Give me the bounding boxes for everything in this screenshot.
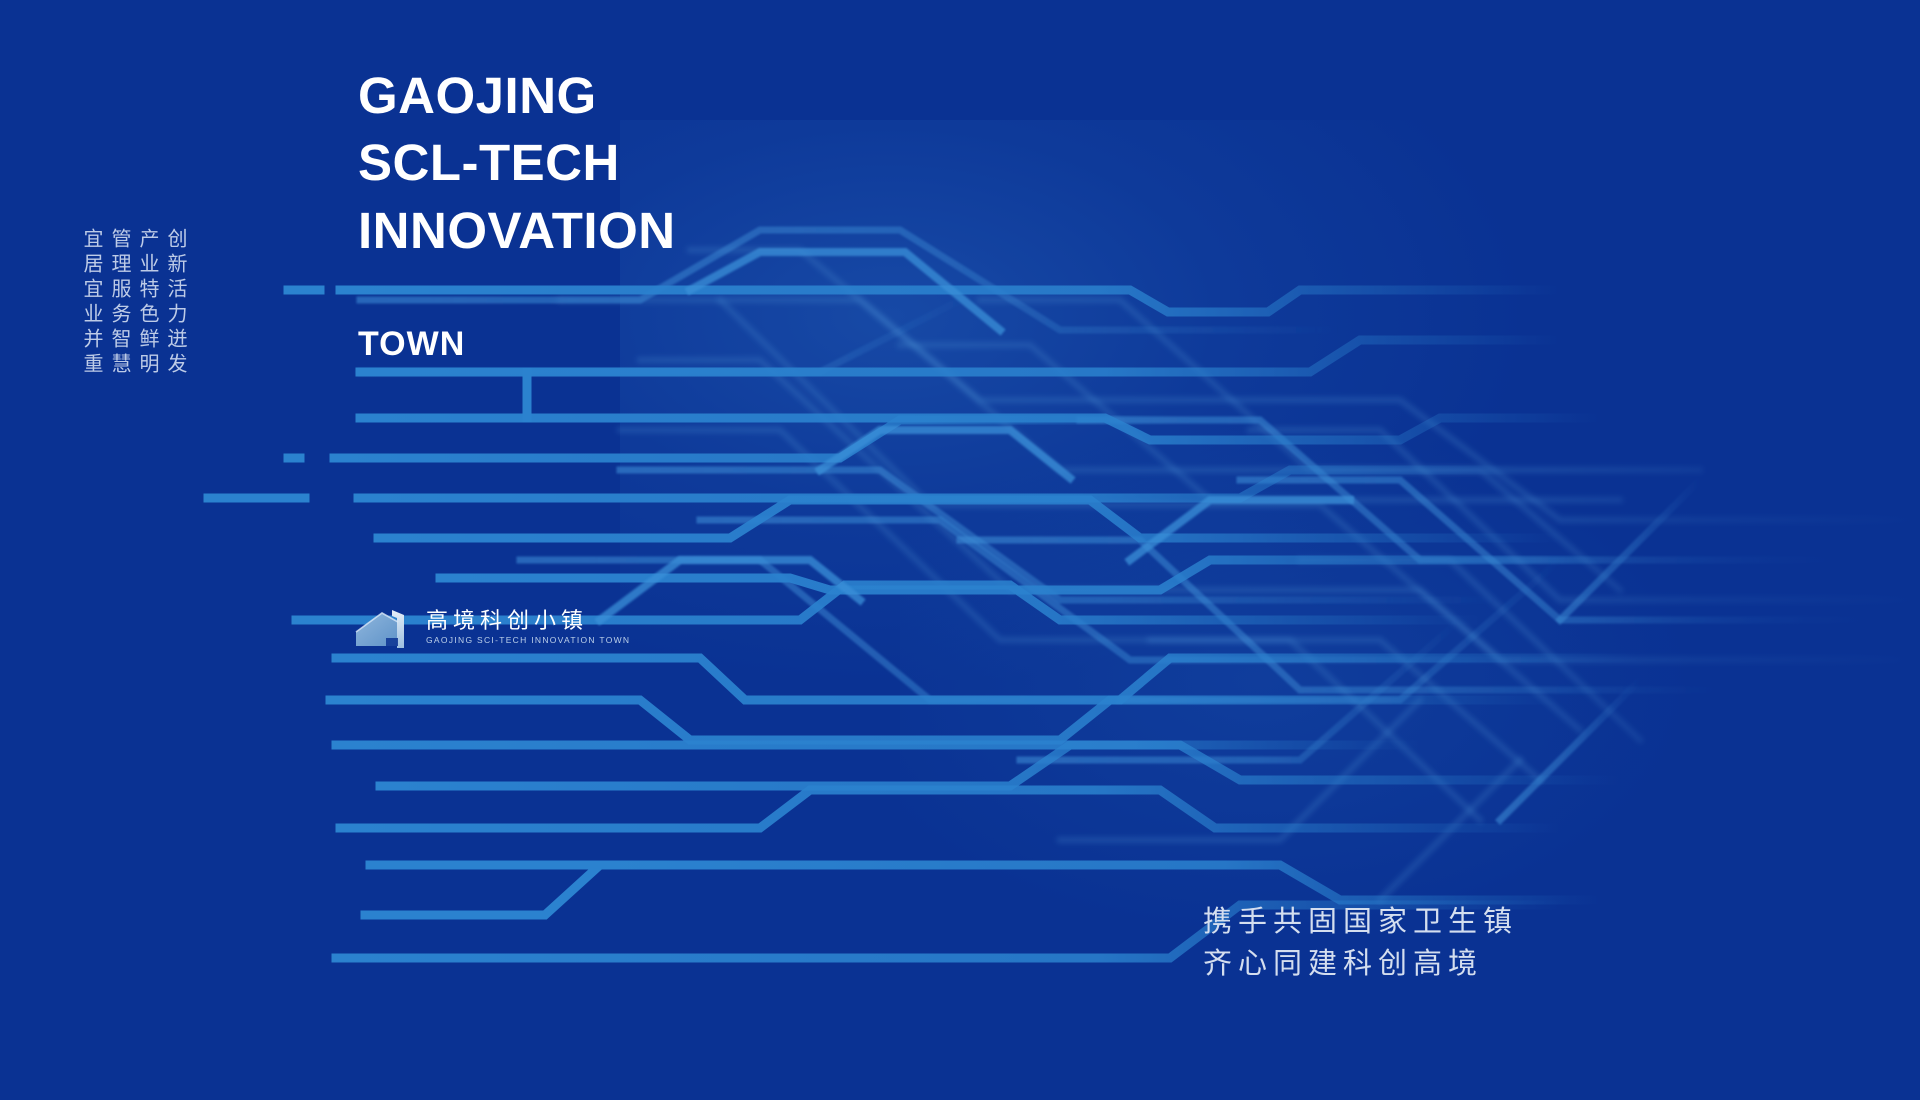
vertical-slogan-group: 创新活力迸发 产业特色鲜明 管理服务智慧 宜居宜业并重 [82, 228, 186, 378]
logo-lockup[interactable]: 高境科创小镇 GAOJING SCI-TECH INNOVATION TOWN [352, 604, 630, 652]
circuit-trace-artwork [0, 0, 1920, 1100]
poster-canvas: GAOJING SCL-TECH INNOVATION TOWN 创新活力迸发 … [0, 0, 1920, 1100]
vertical-slogan-column-3: 管理服务智慧 [110, 228, 130, 378]
vertical-slogan-column-4: 宜居宜业并重 [82, 228, 102, 378]
page-title: GAOJING SCL-TECH INNOVATION [358, 62, 676, 264]
page-subtitle: TOWN [358, 325, 465, 364]
vertical-slogan-column-1: 创新活力迸发 [166, 228, 186, 378]
vertical-slogan-column-2: 产业特色鲜明 [138, 228, 158, 378]
footer-slogan: 携手共固国家卫生镇 齐心同建科创高境 [1203, 900, 1518, 984]
house-building-icon [352, 604, 414, 652]
logo-name-cn: 高境科创小镇 [426, 611, 630, 633]
logo-name-en: GAOJING SCI-TECH INNOVATION TOWN [426, 636, 630, 645]
logo-text-block: 高境科创小镇 GAOJING SCI-TECH INNOVATION TOWN [426, 611, 630, 645]
